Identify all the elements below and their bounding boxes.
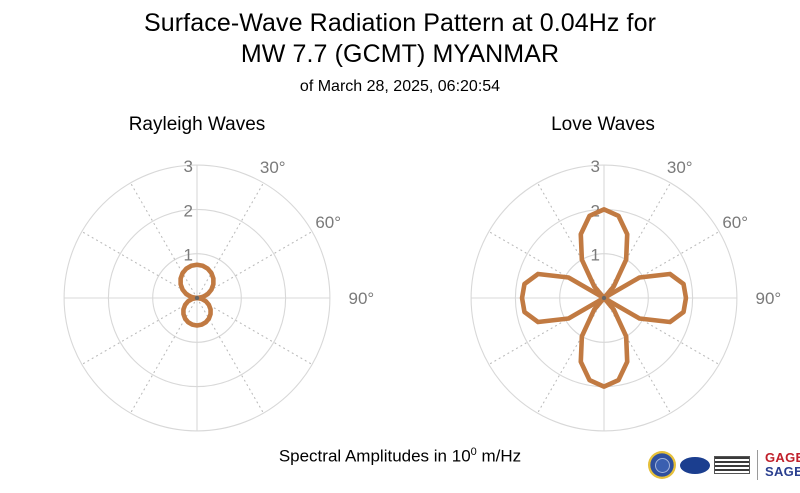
gage-sage-logo: GAGE SAGE	[765, 451, 800, 478]
polar-center-dot	[602, 296, 606, 300]
figure-canvas: Surface-Wave Radiation Pattern at 0.04Hz…	[0, 0, 800, 493]
sponsor-logo-bar: GAGE SAGE Operated by EarthScope Consort…	[648, 445, 800, 485]
angle-label-30deg: 30°	[667, 158, 693, 177]
striped-block-icon	[714, 456, 750, 474]
radial-label-3: 3	[591, 157, 600, 176]
caption-prefix: Spectral Amplitudes in 10	[279, 447, 471, 466]
love-polar-plot: 30°60°90°123	[0, 0, 800, 493]
sage-label: SAGE	[765, 465, 800, 479]
radial-label-1: 1	[591, 246, 600, 265]
blue-oval-icon	[680, 457, 710, 474]
caption-suffix: m/Hz	[477, 447, 521, 466]
logo-divider	[757, 450, 758, 480]
gage-label: GAGE	[765, 451, 800, 465]
nsf-seal-icon	[648, 451, 676, 479]
angle-label-90deg: 90°	[756, 289, 782, 308]
angle-label-60deg: 60°	[722, 213, 748, 232]
